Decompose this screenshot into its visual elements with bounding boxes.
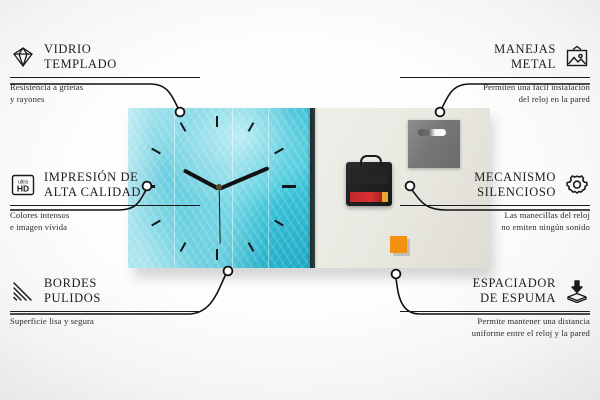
feature-title-line2: METAL [494,57,556,72]
feature-header: VIDRIO TEMPLADO [10,42,200,72]
metal-hanger-plate [408,120,460,168]
feature-description: Superficie lisa y segura [10,316,200,327]
gear-icon [564,173,590,197]
photo-seam [232,108,233,268]
feature-description: Permite mantener una distancia uniforme … [400,316,590,339]
feature-title: MANEJAS METAL [494,42,556,72]
feature-header: BORDES PULIDOS [10,276,200,306]
svg-text:HD: HD [17,183,29,193]
feature-divider [400,205,590,207]
feature-desc-line1: Permite mantener una distancia [400,316,590,327]
feature-title: BORDES PULIDOS [44,276,101,306]
diamond-icon [10,45,36,69]
feature-divider [10,205,200,207]
feature-divider [400,311,590,313]
feature-description: Colores intensos e imagen vívida [10,210,200,233]
feature-desc-line2: no emiten ningún sonido [400,222,590,233]
feature-title: ESPACIADOR DE ESPUMA [473,276,556,306]
clock-second-hand [218,188,220,244]
clock-tick [282,185,296,188]
clock-center-cap [216,184,222,190]
clock-tick [274,148,284,155]
quartz-clock-mechanism [346,162,392,206]
feature-manejas-metal: MANEJAS METAL Permiten una fácil instala… [400,42,590,105]
feature-desc-line1: Colores intensos [10,210,200,221]
feature-title-line1: VIDRIO [44,42,91,56]
feature-title: IMPRESIÓN DE ALTA CALIDAD [44,170,141,200]
feature-vidrio-templado: VIDRIO TEMPLADO Resistencia a grietas y … [10,42,200,105]
infographic-canvas: VIDRIO TEMPLADO Resistencia a grietas y … [0,0,600,400]
feature-desc-line2: del reloj en la pared [400,94,590,105]
feature-desc-line2: e imagen vívida [10,222,200,233]
clock-tick [216,116,218,127]
feature-divider [10,77,200,79]
feature-title-line1: MECANISMO [474,170,556,184]
feature-mecanismo-silencioso: MECANISMO SILENCIOSO Las manecillas del … [400,170,590,233]
feature-title-line1: IMPRESIÓN DE [44,170,138,184]
feature-title-line1: MANEJAS [494,42,556,56]
feature-title: VIDRIO TEMPLADO [44,42,117,72]
clock-tick [216,249,218,260]
mechanism-hanging-loop [360,155,382,166]
foam-spacer-icon [564,279,590,303]
feature-title-line1: BORDES [44,276,97,290]
feature-description: Resistencia a grietas y rayones [10,82,200,105]
feature-desc-line1: Permiten una fácil instalación [400,82,590,93]
feature-title-line2: TEMPLADO [44,57,117,72]
feature-bordes-pulidos: BORDES PULIDOS Superficie lisa y segura [10,276,200,328]
ultra-hd-icon: ultra HD [10,173,36,197]
feature-header: MANEJAS METAL [400,42,590,72]
feature-title-line2: SILENCIOSO [474,185,556,200]
feature-title-line2: ALTA CALIDAD [44,185,141,200]
feature-title-line2: PULIDOS [44,291,101,306]
feature-espaciador-espuma: ESPACIADOR DE ESPUMA Permite mantener un… [400,276,590,339]
feature-impresion-alta-calidad: ultra HD IMPRESIÓN DE ALTA CALIDAD Color… [10,170,200,233]
clock-tick [248,122,255,132]
feature-header: ESPACIADOR DE ESPUMA [400,276,590,306]
feature-description: Permiten una fácil instalación del reloj… [400,82,590,105]
feature-desc-line1: Resistencia a grietas [10,82,200,93]
feature-header: ultra HD IMPRESIÓN DE ALTA CALIDAD [10,170,200,200]
feature-title-line1: ESPACIADOR [473,276,556,290]
feature-desc-line2: y rayones [10,94,200,105]
feature-header: MECANISMO SILENCIOSO [400,170,590,200]
feature-divider [10,311,200,313]
clock-tick [151,148,161,155]
clock-tick [274,220,284,227]
mechanism-body [350,170,388,184]
clock-minute-hand [218,166,269,191]
clock-tick [180,122,187,132]
wall-hanger-icon [564,45,590,69]
battery-terminal [382,192,388,202]
feature-desc-line1: Las manecillas del reloj [400,210,590,221]
feature-title-line2: DE ESPUMA [473,291,556,306]
feature-divider [400,77,590,79]
polished-edge-icon [10,279,36,303]
feature-title: MECANISMO SILENCIOSO [474,170,556,200]
feature-desc-line2: uniforme entre el reloj y la pared [400,328,590,339]
photo-seam [268,108,269,268]
clock-tick [248,242,255,252]
feature-desc-line1: Superficie lisa y segura [10,316,200,327]
foam-spacer [390,236,407,253]
hanger-keyhole-slot [418,129,446,136]
back-panel-edge [315,108,318,268]
feature-description: Las manecillas del reloj no emiten ningú… [400,210,590,233]
clock-tick [180,242,187,252]
